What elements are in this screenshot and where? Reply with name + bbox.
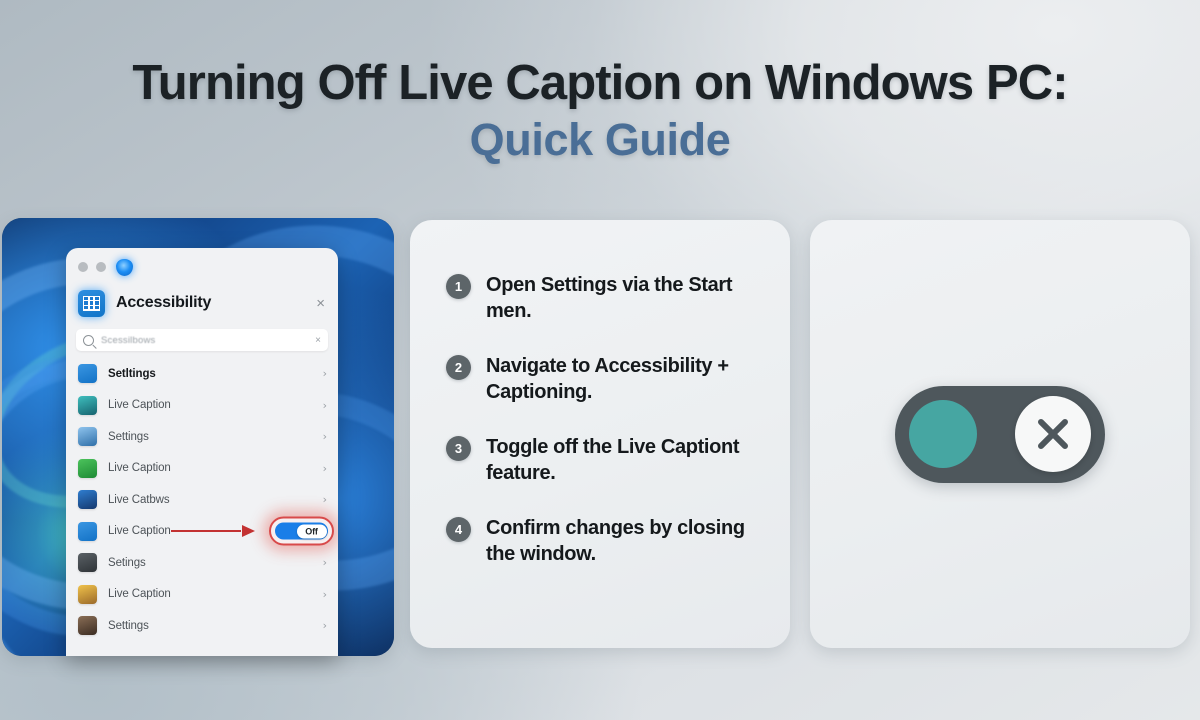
step-text: Open Settings via the Start men. bbox=[486, 272, 760, 324]
list-item[interactable]: Live Catbws › bbox=[66, 484, 338, 516]
chevron-right-icon: › bbox=[323, 619, 327, 632]
list-item-label: Live Catbws bbox=[108, 494, 323, 506]
list-item[interactable]: Settings › bbox=[66, 421, 338, 453]
window-header: Accessibility × bbox=[66, 277, 338, 325]
toggle-state-label: Off bbox=[305, 526, 317, 536]
infographic-canvas: Turning Off Live Caption on Windows PC: … bbox=[0, 0, 1200, 720]
photo-icon bbox=[78, 396, 97, 415]
location-pin-icon[interactable] bbox=[116, 259, 133, 276]
clock-icon bbox=[78, 427, 97, 446]
settings-list: Setltings › Live Caption › Settings › Li… bbox=[66, 358, 338, 642]
avatar-icon bbox=[78, 616, 97, 635]
step-text: Toggle off the Live Captiont feature. bbox=[486, 434, 760, 486]
step-number-badge: 1 bbox=[446, 274, 471, 299]
printer-icon bbox=[78, 553, 97, 572]
list-item-label: Live Caption bbox=[108, 462, 323, 474]
list-item-label: Setltings bbox=[108, 368, 323, 380]
clear-search-icon[interactable]: × bbox=[315, 335, 321, 346]
list-item[interactable]: Setltings › bbox=[66, 358, 338, 390]
list-item-label: Settings bbox=[108, 431, 323, 443]
list-item-label: Setings bbox=[108, 557, 323, 569]
chevron-right-icon: › bbox=[323, 462, 327, 475]
live-caption-toggle[interactable]: Off bbox=[275, 523, 328, 540]
step-number-badge: 4 bbox=[446, 517, 471, 542]
step-text: Confirm changes by closing the window. bbox=[486, 515, 760, 567]
toggle-illustration-card bbox=[810, 220, 1190, 648]
window-dot-two[interactable] bbox=[96, 262, 106, 272]
chevron-right-icon: › bbox=[323, 588, 327, 601]
list-item-live-caption[interactable]: Live Caption Off bbox=[66, 516, 338, 548]
close-icon[interactable]: × bbox=[316, 295, 328, 312]
landscape-icon bbox=[78, 490, 97, 509]
search-field[interactable]: Scessilbows × bbox=[76, 329, 328, 351]
search-icon bbox=[83, 335, 94, 346]
toggle-off-x-icon[interactable] bbox=[895, 386, 1105, 483]
window-controls[interactable] bbox=[66, 248, 338, 277]
list-item-label: Live Caption bbox=[108, 399, 323, 411]
toggle-highlight-ring: Off bbox=[269, 517, 334, 546]
step-number-badge: 2 bbox=[446, 355, 471, 380]
step-item: 2 Navigate to Accessibility + Captioning… bbox=[446, 353, 760, 405]
steps-list: 1 Open Settings via the Start men. 2 Nav… bbox=[410, 220, 790, 567]
list-item[interactable]: Live Caption › bbox=[66, 579, 338, 611]
captions-icon bbox=[78, 522, 97, 541]
list-item-label: Live Caption bbox=[108, 588, 323, 600]
accessibility-grid-icon bbox=[78, 364, 97, 383]
list-item[interactable]: Settings › bbox=[66, 610, 338, 642]
step-item: 3 Toggle off the Live Captiont feature. bbox=[446, 434, 760, 486]
toggle-indicator-dot bbox=[909, 400, 977, 468]
pointer-arrow-icon bbox=[171, 525, 255, 537]
step-item: 4 Confirm changes by closing the window. bbox=[446, 515, 760, 567]
step-number-badge: 3 bbox=[446, 436, 471, 461]
chevron-right-icon: › bbox=[323, 493, 327, 506]
list-item[interactable]: Setings › bbox=[66, 547, 338, 579]
toggle-knob: Off bbox=[297, 524, 327, 538]
window-title: Accessibility bbox=[116, 294, 316, 312]
chevron-right-icon: › bbox=[323, 430, 327, 443]
page-title: Turning Off Live Caption on Windows PC: … bbox=[0, 58, 1200, 164]
window-dot-one[interactable] bbox=[78, 262, 88, 272]
steps-card: 1 Open Settings via the Start men. 2 Nav… bbox=[410, 220, 790, 648]
list-item[interactable]: Live Caption › bbox=[66, 390, 338, 422]
list-item-label: Settings bbox=[108, 620, 323, 632]
close-x-icon bbox=[1031, 412, 1075, 456]
step-text: Navigate to Accessibility + Captioning. bbox=[486, 353, 760, 405]
list-item[interactable]: Live Caption › bbox=[66, 453, 338, 485]
settings-window: Accessibility × Scessilbows × Setltings … bbox=[66, 248, 338, 656]
search-input[interactable]: Scessilbows bbox=[101, 335, 315, 346]
chevron-right-icon: › bbox=[323, 367, 327, 380]
title-sub-line: Quick Guide bbox=[0, 116, 1200, 164]
title-main-line: Turning Off Live Caption on Windows PC: bbox=[0, 58, 1200, 110]
step-item: 1 Open Settings via the Start men. bbox=[446, 272, 760, 324]
chevron-right-icon: › bbox=[323, 556, 327, 569]
accessibility-grid-icon bbox=[78, 290, 105, 317]
chevron-right-icon: › bbox=[323, 399, 327, 412]
refresh-icon bbox=[78, 459, 97, 478]
person-photo-icon bbox=[78, 585, 97, 604]
toggle-knob bbox=[1015, 396, 1091, 472]
